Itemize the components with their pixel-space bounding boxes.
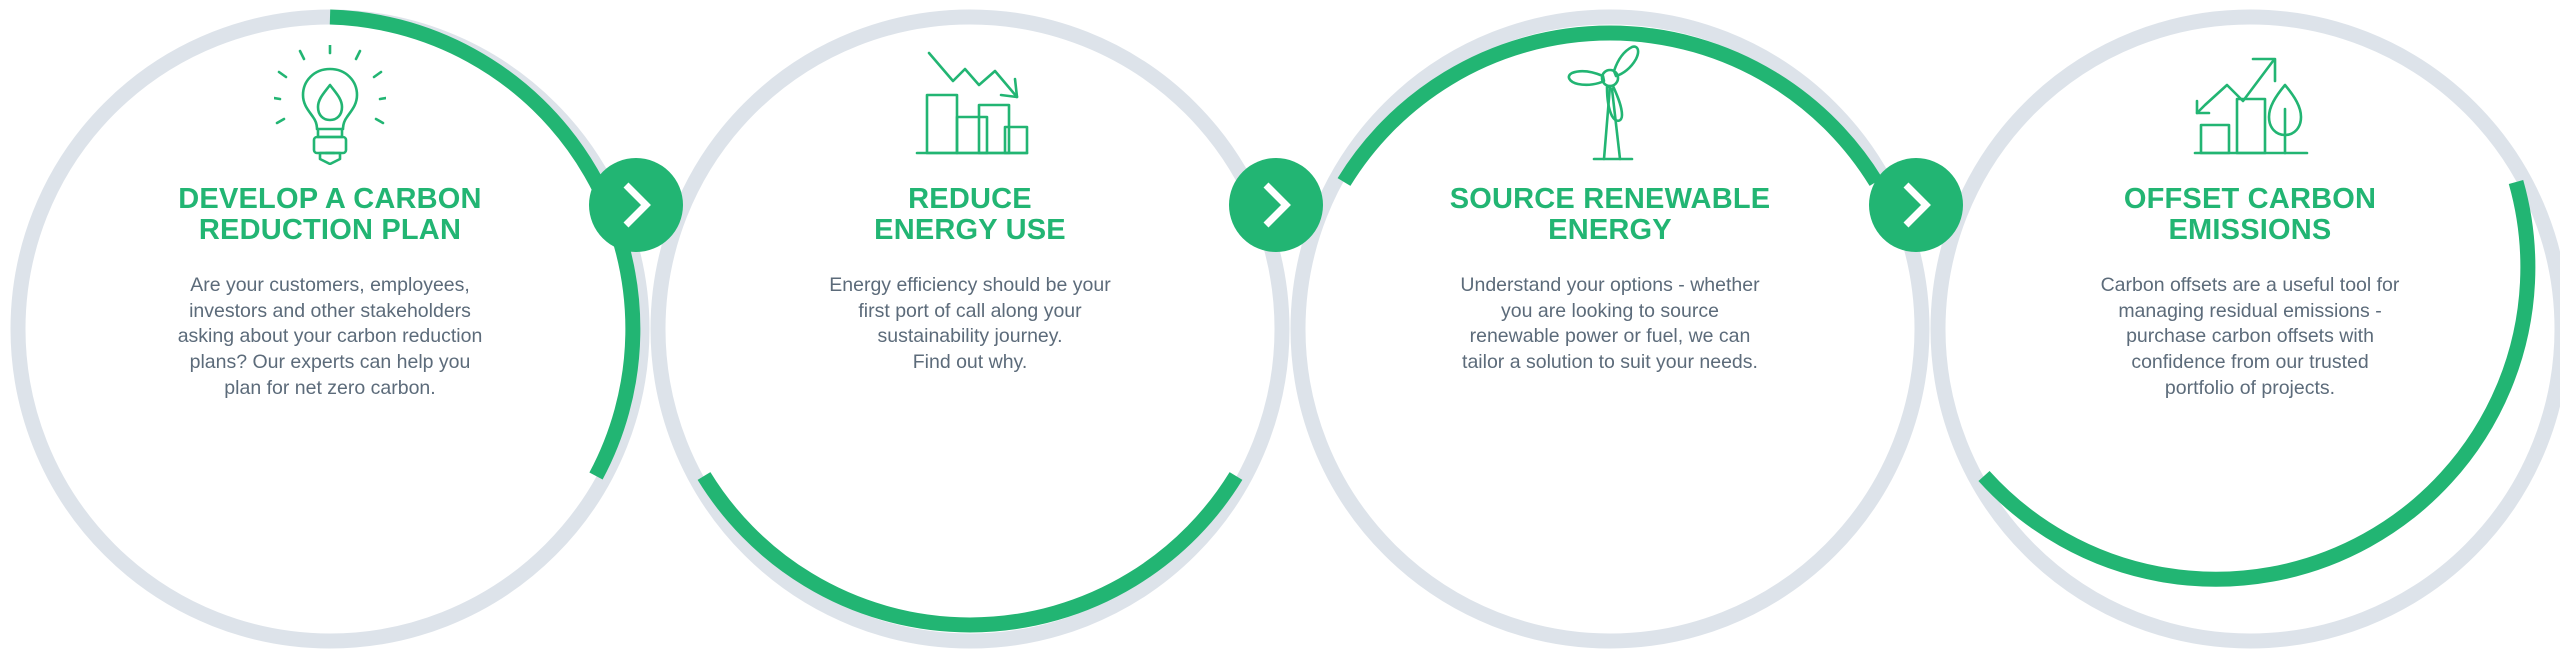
step-description-3: Understand your options - whether you ar… xyxy=(1395,273,1825,377)
step-card-4[interactable]: OFFSET CARBON EMISSIONS Carbon offsets a… xyxy=(1920,0,2560,659)
declining-bar-chart-icon xyxy=(755,40,1185,170)
connector-arrow-1[interactable] xyxy=(589,158,683,252)
growth-chart-leaf-icon xyxy=(2035,40,2465,170)
step-title-3: SOURCE RENEWABLE ENERGY xyxy=(1395,184,1825,247)
step-card-1[interactable]: DEVELOP A CARBON REDUCTION PLAN Are your… xyxy=(0,0,660,659)
process-infographic: DEVELOP A CARBON REDUCTION PLAN Are your… xyxy=(0,0,2560,659)
step-title-2: REDUCE ENERGY USE xyxy=(755,184,1185,247)
step-title-1: DEVELOP A CARBON REDUCTION PLAN xyxy=(115,184,545,247)
lightbulb-leaf-icon xyxy=(115,40,545,170)
step-content-3: SOURCE RENEWABLE ENERGY Understand your … xyxy=(1395,40,1825,376)
step-description-4: Carbon offsets are a useful tool for man… xyxy=(2035,273,2465,403)
connector-arrow-2[interactable] xyxy=(1229,158,1323,252)
step-card-2[interactable]: REDUCE ENERGY USE Energy efficiency shou… xyxy=(640,0,1300,659)
chevron-right-icon xyxy=(619,180,653,230)
step-description-2: Energy efficiency should be your first p… xyxy=(755,273,1185,377)
step-content-4: OFFSET CARBON EMISSIONS Carbon offsets a… xyxy=(2035,40,2465,402)
step-title-4: OFFSET CARBON EMISSIONS xyxy=(2035,184,2465,247)
step-card-3[interactable]: SOURCE RENEWABLE ENERGY Understand your … xyxy=(1280,0,1940,659)
step-description-1: Are your customers, employees, investors… xyxy=(115,273,545,403)
step-content-1: DEVELOP A CARBON REDUCTION PLAN Are your… xyxy=(115,40,545,402)
connector-arrow-3[interactable] xyxy=(1869,158,1963,252)
wind-turbine-icon xyxy=(1395,40,1825,170)
chevron-right-icon xyxy=(1899,180,1933,230)
chevron-right-icon xyxy=(1259,180,1293,230)
step-content-2: REDUCE ENERGY USE Energy efficiency shou… xyxy=(755,40,1185,376)
